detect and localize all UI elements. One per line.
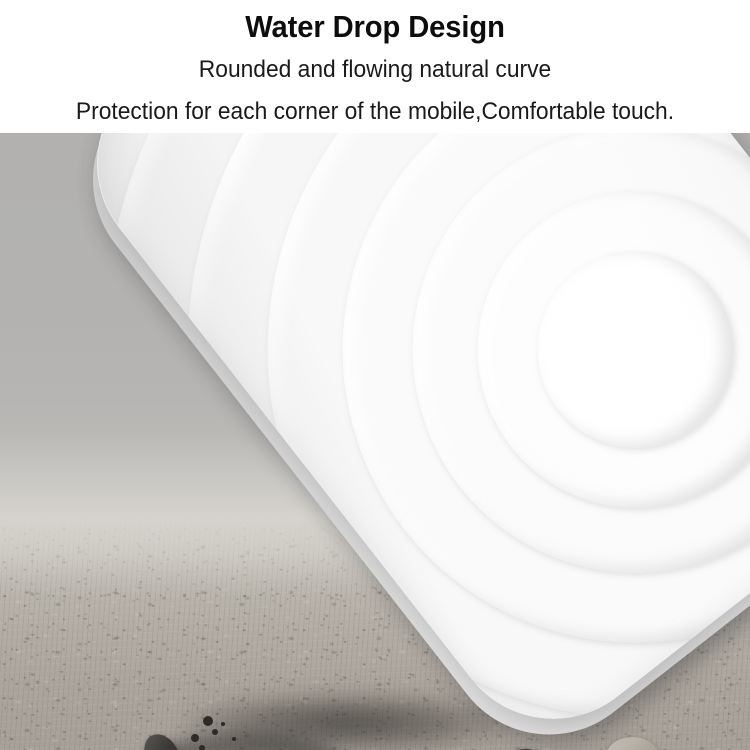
text-banner: Water Drop Design Rounded and flowing na…: [0, 0, 750, 133]
phone-case-wrapper: [0, 133, 750, 750]
subtitle: Rounded and flowing natural curve: [19, 56, 732, 84]
water-drop-ripple-layer: [55, 133, 481, 146]
product-marketing-image: Water Drop Design Rounded and flowing na…: [0, 0, 750, 750]
case-body: [55, 133, 750, 750]
product-photo: [0, 133, 750, 750]
page-title: Water Drop Design: [23, 9, 728, 45]
tagline: Protection for each corner of the mobile…: [19, 98, 732, 126]
phone-case: [55, 133, 750, 750]
